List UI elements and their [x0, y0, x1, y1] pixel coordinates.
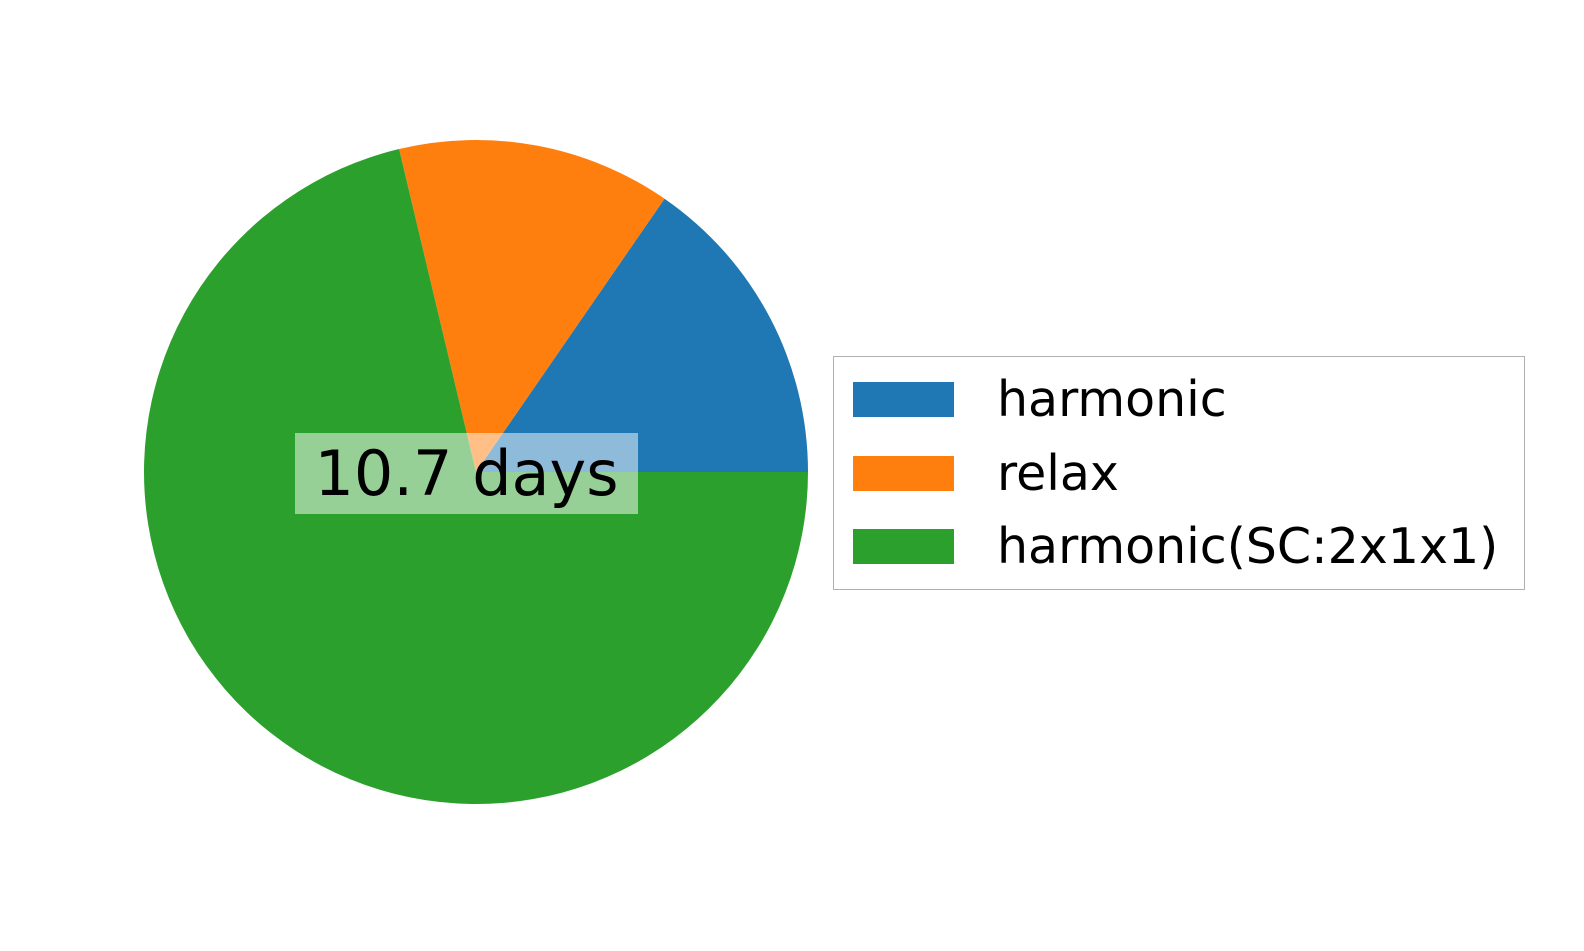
figure-canvas: 10.7 days harmonic relax harmonic(SC:2x1…: [0, 0, 1584, 951]
legend-swatch-icon: [853, 529, 954, 564]
legend-entry-harmonic-sc[interactable]: harmonic(SC:2x1x1): [853, 516, 1498, 576]
legend-swatch-icon: [853, 456, 954, 491]
legend-entry-list: harmonic relax harmonic(SC:2x1x1): [834, 357, 1524, 589]
pie-center-annotation: 10.7 days: [295, 433, 638, 514]
legend-swatch-icon: [853, 382, 954, 417]
chart-legend: harmonic relax harmonic(SC:2x1x1): [833, 356, 1525, 590]
legend-label: relax: [997, 449, 1119, 498]
legend-label: harmonic(SC:2x1x1): [997, 522, 1498, 571]
legend-entry-relax[interactable]: relax: [853, 443, 1119, 503]
legend-entry-harmonic[interactable]: harmonic: [853, 369, 1227, 429]
legend-label: harmonic: [997, 375, 1227, 424]
pie-center-annotation-text: 10.7 days: [314, 443, 618, 505]
